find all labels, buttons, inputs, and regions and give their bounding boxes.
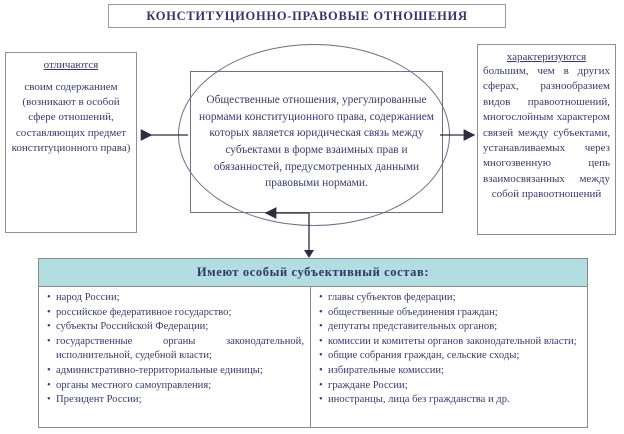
list-item: граждане России; xyxy=(319,379,581,394)
right-box-body: большим, чем в других сферах, разнообраз… xyxy=(483,64,610,203)
list-item: комиссии и комитеты органов законодатель… xyxy=(319,335,581,350)
subject-composition-table: народ России;российское федеративное гос… xyxy=(38,287,588,428)
subject-list-right: главы субъектов федерации;общественные о… xyxy=(319,291,581,408)
left-box-heading: отличаются xyxy=(11,59,131,71)
list-item: общие собрания граждан, сельские сходы; xyxy=(319,349,581,364)
diagram-title-box: КОНСТИТУЦИОННО-ПРАВОВЫЕ ОТНОШЕНИЯ xyxy=(108,4,506,28)
left-characteristic-box: отличаются своим содержанием (возникают … xyxy=(5,52,137,233)
right-box-heading: характеризуются xyxy=(483,51,610,63)
diagram-canvas: КОНСТИТУЦИОННО-ПРАВОВЫЕ ОТНОШЕНИЯ отлича… xyxy=(0,0,624,434)
list-item: российское федеративное государство; xyxy=(47,306,304,321)
left-box-body: своим содержанием (возникают в особой сф… xyxy=(11,80,131,156)
list-item: народ России; xyxy=(47,291,304,306)
subject-composition-header: Имеют особый субъективный состав: xyxy=(38,258,588,287)
diagram-title-text: КОНСТИТУЦИОННО-ПРАВОВЫЕ ОТНОШЕНИЯ xyxy=(146,9,467,24)
list-item: субъекты Российской Федерации; xyxy=(47,320,304,335)
list-item: административно-территориальные единицы; xyxy=(47,364,304,379)
center-definition-text: Общественные отношения, урегулированные … xyxy=(191,92,442,192)
list-item: государственные органы законодательной, … xyxy=(47,335,304,364)
list-item: избирательные комиссии; xyxy=(319,364,581,379)
subject-composition-header-text: Имеют особый субъективный состав: xyxy=(197,265,429,280)
subject-list-left: народ России;российское федеративное гос… xyxy=(47,291,304,408)
list-item: Президент России; xyxy=(47,393,304,408)
list-item: депутаты представительных органов; xyxy=(319,320,581,335)
center-definition-box: Общественные отношения, урегулированные … xyxy=(190,71,443,213)
list-item: иностранцы, лица без гражданства и др. xyxy=(319,393,581,408)
subject-list-left-column: народ России;российское федеративное гос… xyxy=(39,287,311,427)
list-item: общественные объединения граждан; xyxy=(319,306,581,321)
list-item: главы субъектов федерации; xyxy=(319,291,581,306)
list-item: органы местного самоуправления; xyxy=(47,379,304,394)
right-characteristic-box: характеризуются большим, чем в других сф… xyxy=(477,44,616,235)
subject-list-right-column: главы субъектов федерации;общественные о… xyxy=(311,287,587,427)
